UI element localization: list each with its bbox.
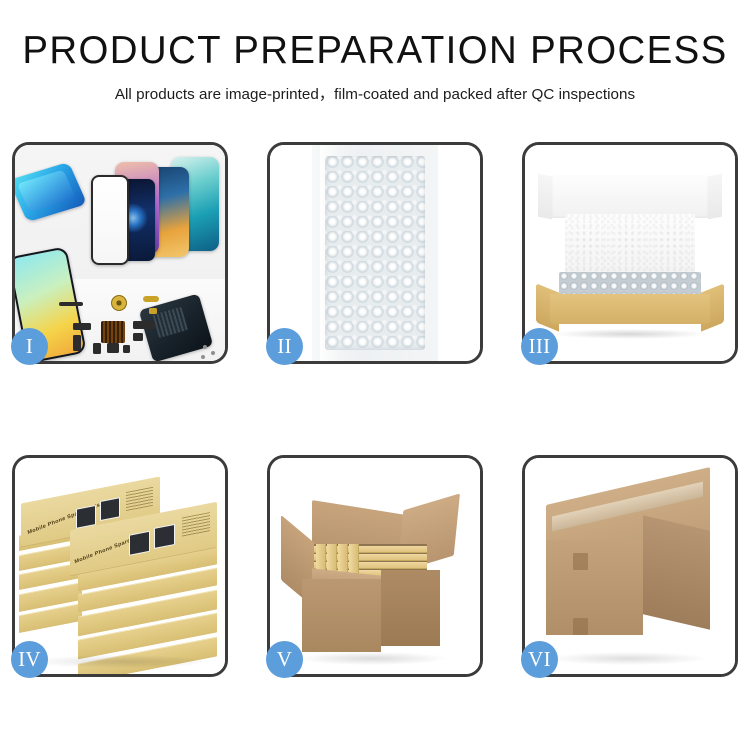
screw-2 [211, 351, 215, 355]
screw-3 [201, 355, 205, 359]
part-cable-d [133, 333, 143, 341]
step-panel-5[interactable]: V [267, 455, 483, 677]
part-cable-a [73, 323, 91, 330]
carton-right-panel [381, 570, 440, 646]
foam-sheet [565, 214, 695, 277]
box-lid-open [552, 175, 707, 218]
box-front-panel [550, 294, 710, 324]
part-button [93, 343, 101, 354]
step-6-image [525, 458, 735, 674]
carton-front-panel [302, 579, 382, 652]
box-window-1b [100, 498, 120, 522]
part-module [107, 343, 119, 353]
carton-handle-mark-bottom [573, 618, 588, 635]
process-steps-grid: I II III [12, 142, 738, 677]
sealed-carton-front [546, 540, 643, 635]
sealed-carton-right [643, 515, 710, 630]
step-number-badge-5: V [266, 641, 303, 678]
part-cable-c [133, 321, 155, 329]
part-speaker-coil [111, 295, 127, 311]
box-checklist-2 [181, 513, 209, 538]
part-flex-bar [59, 302, 83, 306]
step-4-image: Mobile Phone Spare Parts Mobile Phone Sp… [15, 458, 225, 674]
box-window-2a [128, 531, 149, 556]
part-gold-flex [143, 296, 159, 302]
step-panel-6[interactable]: VI [522, 455, 738, 677]
part-gold-chip [149, 308, 157, 314]
step-number-badge-4: IV [11, 641, 48, 678]
box-window-2b [153, 524, 174, 549]
page-header: PRODUCT PREPARATION PROCESS All products… [0, 0, 750, 104]
step-panel-3[interactable]: III [522, 142, 738, 364]
step-1-image [15, 145, 225, 361]
box-checklist-1 [127, 487, 153, 511]
part-cable-b [73, 335, 81, 351]
sealed-carton-shadow [550, 652, 705, 665]
step-panel-4[interactable]: Mobile Phone Spare Parts Mobile Phone Sp… [12, 455, 228, 677]
step-5-image [270, 458, 480, 674]
bubble-wrap-sheet [325, 156, 426, 350]
step-3-image [525, 145, 735, 361]
page-subtitle: All products are image-printed，film-coat… [0, 82, 750, 104]
step-number-badge-6: VI [521, 641, 558, 678]
carton-shadow [299, 652, 446, 665]
step-number-badge-1: I [11, 328, 48, 365]
screw-1 [203, 345, 207, 349]
box-stack: Mobile Phone Spare Parts Mobile Phone Sp… [15, 458, 225, 674]
step-2-image [270, 145, 480, 361]
screen-protector [91, 175, 129, 265]
box-shadow [554, 329, 705, 340]
step-panel-1[interactable]: I [12, 142, 228, 364]
stack-shadow [32, 655, 208, 668]
part-small-chip [123, 345, 130, 353]
step-number-badge-3: III [521, 328, 558, 365]
carton-handle-mark-top [573, 553, 588, 570]
page-title: PRODUCT PREPARATION PROCESS [6, 30, 745, 71]
step-number-badge-2: II [266, 328, 303, 365]
step-panel-2[interactable]: II [267, 142, 483, 364]
part-connector-grid [101, 321, 125, 343]
